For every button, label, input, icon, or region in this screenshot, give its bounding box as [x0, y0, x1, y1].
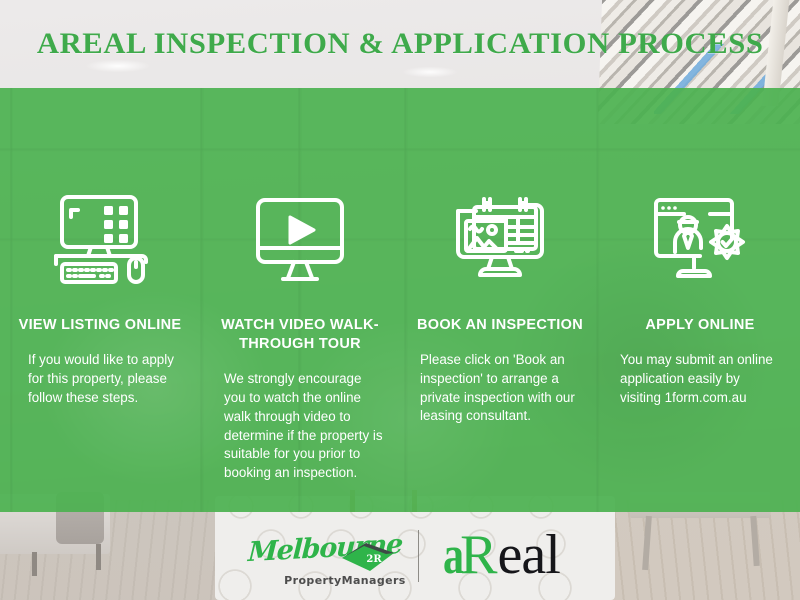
monitor-play-button-icon	[250, 180, 350, 300]
step-column-book-inspection: BOOK AN INSPECTION Please click on 'Book…	[400, 88, 600, 512]
step-title: APPLY ONLINE	[645, 316, 754, 335]
footer-logos: Melbourne 2R PropertyManagers a R eal	[0, 512, 800, 600]
melbourne-property-managers-logo[interactable]: Melbourne 2R PropertyManagers	[240, 527, 400, 585]
svg-text:2R: 2R	[367, 554, 383, 565]
step-body: Please click on 'Book an inspection' to …	[414, 351, 586, 426]
step-title: VIEW LISTING ONLINE	[19, 316, 182, 335]
steps-row: VIEW LISTING ONLINE If you would like to…	[0, 88, 800, 512]
step-body: If you would like to apply for this prop…	[14, 351, 186, 407]
areal-mark-a: a	[443, 528, 464, 582]
page-title: AREAL INSPECTION & APPLICATION PROCESS	[37, 27, 764, 61]
step-title: WATCH VIDEO WALK-THROUGH TOUR	[214, 316, 386, 354]
logo-divider	[418, 530, 419, 582]
areal-logo[interactable]: a R eal	[437, 527, 560, 585]
step-column-view-listing: VIEW LISTING ONLINE If you would like to…	[0, 88, 200, 512]
desktop-monitor-keyboard-mouse-icon	[49, 180, 151, 300]
step-body: We strongly encourage you to watch the o…	[214, 370, 386, 483]
step-body: You may submit an online application eas…	[614, 351, 786, 407]
header: AREAL INSPECTION & APPLICATION PROCESS	[0, 0, 800, 88]
poster-canvas: AREAL INSPECTION & APPLICATION PROCESS	[0, 0, 800, 600]
browser-person-gear-check-icon	[648, 180, 752, 300]
step-title: BOOK AN INSPECTION	[417, 316, 583, 335]
areal-wordmark: eal	[498, 527, 560, 583]
melbourne-subtitle: PropertyManagers	[284, 574, 406, 587]
areal-mark-r: R	[460, 527, 497, 583]
step-column-apply-online: APPLY ONLINE You may submit an online ap…	[600, 88, 800, 512]
step-column-watch-video: WATCH VIDEO WALK-THROUGH TOUR We strongl…	[200, 88, 400, 512]
monitor-calendar-photo-icon	[448, 180, 552, 300]
roof-icon: 2R	[340, 541, 396, 575]
